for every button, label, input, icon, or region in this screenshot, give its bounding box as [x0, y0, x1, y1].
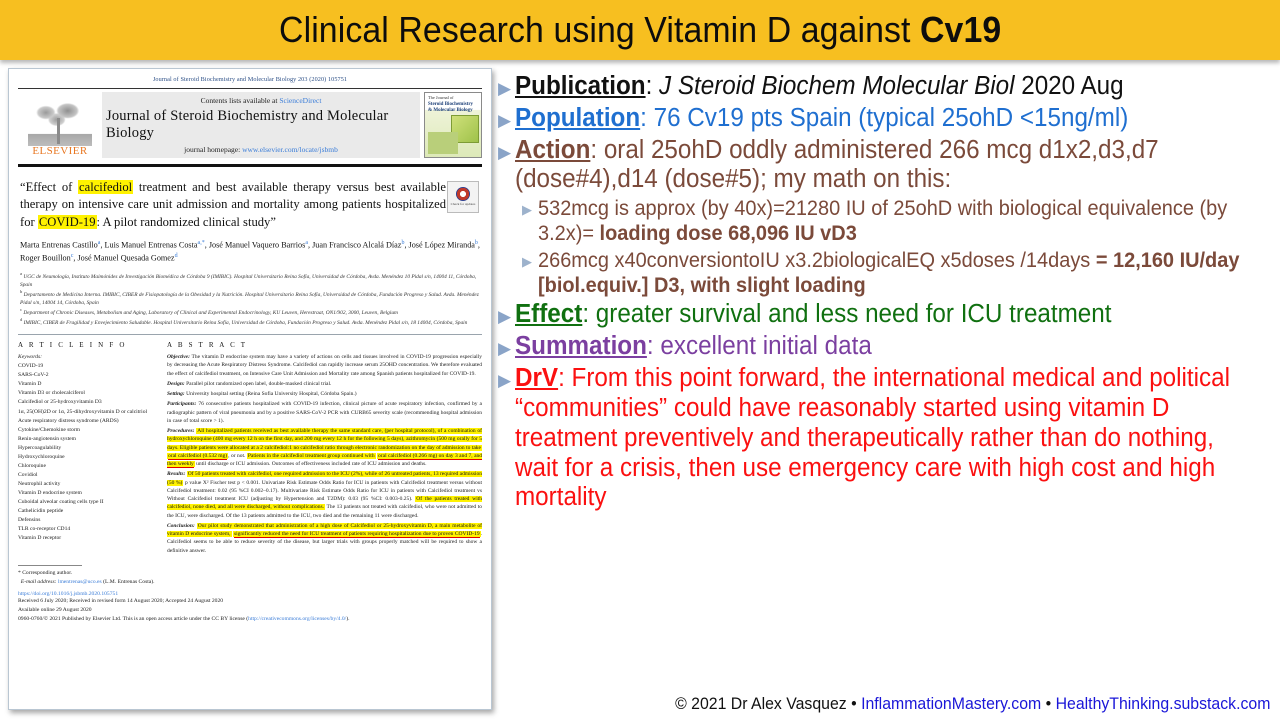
crossmark-check-for-updates-badge[interactable]: Check for updates [447, 181, 479, 213]
email-note: E-mail address: lmentrenas@uco.es (L.M. … [18, 578, 482, 587]
abstract-section-label: Objective: [167, 354, 190, 360]
keywords-label: Keywords: [18, 353, 158, 362]
paper-screenshot-panel[interactable]: Journal of Steroid Biochemistry and Mole… [8, 68, 492, 710]
keyword-item: SARS-CoV-2 [18, 371, 158, 380]
keyword-item: Cytokine/Chemokine storm [18, 426, 158, 435]
abstract-section-label: Participants: [167, 401, 196, 407]
abstract-paragraph: Objective: The vitamin D endocrine syste… [167, 353, 482, 378]
bullet-population-body: 76 Cv19 pts Spain (typical 25ohD <15ng/m… [654, 104, 1129, 132]
footer-sep-1: • [847, 695, 861, 713]
bullet-action-sep: : [590, 136, 603, 164]
article-info-heading: A R T I C L E I N F O [18, 341, 158, 349]
keyword-item: Vitamin D [18, 380, 158, 389]
journal-homepage-line: journal homepage: www.elsevier.com/locat… [184, 145, 338, 154]
masthead-box: Contents lists available at ScienceDirec… [102, 92, 420, 158]
bullet-drv-lead: DrV [515, 364, 558, 392]
affiliation-line: d IMIBIC, CIBER de Fragilidad y Envejeci… [20, 317, 480, 327]
bullet-action-sub2-text: 266mcg x40conversiontoIU x3.2biologicalE… [538, 249, 1243, 299]
article-title-part: : A pilot randomized clinical study” [97, 215, 276, 229]
journal-running-head: Journal of Steroid Biochemistry and Mole… [18, 76, 482, 83]
keyword-item: Renin-angiotensin system [18, 435, 158, 444]
bullet-arrow-icon: ▶ [498, 372, 515, 390]
bullet-drv-text: DrV: From this point forward, the intern… [515, 364, 1242, 513]
bullet-arrow-icon: ▶ [498, 340, 515, 358]
keyword-item: Chloroquine [18, 462, 158, 471]
abstract-body: Objective: The vitamin D endocrine syste… [167, 353, 482, 555]
abstract-paragraph: Setting: University hospital setting (Re… [167, 390, 482, 398]
abstract-paragraph: Results: Of 50 patients treated with cal… [167, 470, 482, 520]
keyword-item: Vitamin D3 or cholecalciferol [18, 389, 158, 398]
bullet-population-text: Population: 76 Cv19 pts Spain (typical 2… [515, 104, 1242, 134]
bullet-arrow-icon: ▶ [498, 144, 515, 162]
journal-cover-thumbnail: The Journal of Steroid Biochemistry & Mo… [424, 92, 482, 158]
corresponding-author-note: * Corresponding author. [18, 569, 482, 578]
contents-prefix: Contents lists available at [201, 96, 280, 105]
page-title-bold: Cv19 [920, 9, 1001, 50]
contents-line: Contents lists available at ScienceDirec… [201, 96, 322, 105]
slide-title-banner: Clinical Research using Vitamin D agains… [0, 0, 1280, 60]
slide-root: Clinical Research using Vitamin D agains… [0, 0, 1280, 720]
keyword-item: Cathelicidin peptide [18, 507, 158, 516]
page-title: Clinical Research using Vitamin D agains… [279, 9, 1001, 51]
bullet-list: ▶ Publication: J Steroid Biochem Molecul… [498, 72, 1280, 672]
bullet-action-sub2: ▶ 266mcg x40conversiontoIU x3.2biologica… [498, 249, 1280, 299]
license-prefix: 0960-0760/© 2021 Published by Elsevier L… [18, 616, 248, 622]
keyword-item: TLR co-receptor CD14 [18, 525, 158, 534]
keyword-item: Vitamin D endocrine system [18, 489, 158, 498]
affiliation-line: c Department of Chronic Diseases, Metabo… [20, 307, 480, 317]
keyword-item: Cuboidal alveolar coating cells type II [18, 498, 158, 507]
footer-sep-2: • [1041, 695, 1055, 713]
cover-helix-icon [428, 132, 458, 154]
bullet-effect: ▶ Effect: greater survival and less need… [498, 300, 1280, 330]
bullet-publication-text: Publication: J Steroid Biochem Molecular… [515, 72, 1242, 102]
keyword-item: Neutrophil activity [18, 480, 158, 489]
bullet-arrow-icon: ▶ [522, 203, 538, 217]
keyword-item: Calcifediol or 25-hydroxyvitamin D3 [18, 398, 158, 407]
article-columns: A R T I C L E I N F O Keywords:COVID-19S… [18, 341, 482, 557]
bullet-drv: ▶ DrV: From this point forward, the inte… [498, 364, 1280, 513]
abstract-section-label: Design: [167, 381, 185, 387]
bullet-population: ▶ Population: 76 Cv19 pts Spain (typical… [498, 104, 1280, 134]
bullet-summation-body: excellent initial data [660, 332, 871, 360]
abstract-section-label: Setting: [167, 391, 185, 397]
bullet-publication-lead: Publication [515, 72, 646, 100]
bullet-arrow-icon: ▶ [498, 112, 515, 130]
abstract-column: A B S T R A C T Objective: The vitamin D… [167, 341, 482, 557]
keyword-item: Covidiol [18, 471, 158, 480]
bullet-population-sep: : [640, 104, 653, 132]
journal-title: Journal of Steroid Biochemistry and Mole… [106, 108, 416, 142]
article-affiliations: a UGC de Neumología, Instituto Maimónide… [20, 271, 480, 327]
license-suffix: ). [346, 616, 349, 622]
abstract-paragraph: Conclusion: Our pilot study demonstrated… [167, 522, 482, 555]
masthead-rule [18, 164, 482, 167]
received-dates: Received 6 July 2020; Received in revise… [18, 597, 482, 606]
article-title: “Effect of calcifediol treatment and bes… [20, 179, 446, 231]
abstract-section-label: Results: [167, 471, 185, 477]
abstract-heading: A B S T R A C T [167, 341, 482, 349]
bullet-effect-sep: : [582, 300, 595, 328]
affiliation-line: a UGC de Neumología, Instituto Maimónide… [20, 271, 480, 289]
bullet-summation-lead: Summation [515, 332, 647, 360]
bullet-arrow-icon: ▶ [522, 255, 538, 269]
bullet-action-lead: Action [515, 136, 590, 164]
bullet-effect-text: Effect: greater survival and less need f… [515, 300, 1242, 330]
sub1-bold: loading dose 68,096 IU vD3 [600, 222, 857, 245]
bullet-effect-body: greater survival and less need for ICU t… [596, 300, 1112, 328]
highlighted-term: calcifediol [78, 180, 133, 194]
available-online-date: Available online 29 August 2020 [18, 606, 482, 615]
keyword-item: Acute respiratory distress syndrome (ARD… [18, 417, 158, 426]
bullet-action-sub1: ▶ 532mcg is approx (by 40x)=21280 IU of … [498, 197, 1280, 247]
bullet-publication: ▶ Publication: J Steroid Biochem Molecul… [498, 72, 1280, 102]
sub2-plain: 266mcg x40conversiontoIU x3.2biologicalE… [538, 249, 1096, 272]
abstract-paragraph: Design: Parallel pilot randomized open l… [167, 380, 482, 388]
bullet-arrow-icon: ▶ [498, 80, 515, 98]
affiliation-line: b Departamento de Medicina Interna. IMIB… [20, 289, 480, 307]
keyword-item: Hypercoagulability [18, 444, 158, 453]
keywords-list: Keywords:COVID-19SARS-CoV-2Vitamin DVita… [18, 353, 158, 543]
email-label: E-mail address: [21, 579, 57, 585]
bullet-publication-journal: J Steroid Biochem Molecular Biol [659, 72, 1014, 100]
elsevier-logo: ELSEVIER [18, 92, 102, 158]
bullet-action-body: oral 25ohD oddly administered 266 mcg d1… [515, 136, 1159, 194]
article-title-part: “Effect of [20, 180, 78, 194]
affiliation-divider [18, 334, 482, 335]
page-title-normal: Clinical Research using Vitamin D agains… [279, 9, 920, 50]
elsevier-wordmark: ELSEVIER [32, 146, 87, 157]
bullet-action-sub1-text: 532mcg is approx (by 40x)=21280 IU of 25… [538, 197, 1243, 247]
bullet-action-text: Action: oral 25ohD oddly administered 26… [515, 136, 1242, 196]
journal-masthead: ELSEVIER Contents lists available at Sci… [18, 88, 482, 158]
footer-site-2[interactable]: HealthyThinking.substack.com [1056, 695, 1271, 713]
bullet-effect-lead: Effect [515, 300, 582, 328]
article-footnotes: * Corresponding author. E-mail address: … [18, 565, 482, 624]
license-link[interactable]: http://creativecommons.org/licenses/by/4… [248, 616, 346, 622]
abstract-paragraph: Procedures: All hospitalized patients re… [167, 427, 482, 468]
crossmark-icon [456, 187, 470, 201]
abstract-paragraph: Participants: 76 consecutive patients ho… [167, 400, 482, 425]
cover-title-text: Steroid Biochemistry & Molecular Biology [425, 101, 481, 116]
bullet-population-lead: Population [515, 104, 640, 132]
bullet-summation-sep: : [647, 332, 660, 360]
abstract-section-label: Conclusion: [167, 523, 195, 529]
email-suffix: (L.M. Entrenas Costa). [103, 579, 154, 585]
slide-footer: © 2021 Dr Alex Vasquez • InflammationMas… [51, 695, 1280, 714]
email-link[interactable]: lmentrenas@uco.es [58, 579, 102, 585]
abstract-section-label: Procedures: [167, 428, 195, 434]
bullet-arrow-icon: ▶ [498, 308, 515, 326]
keyword-item: Hydroxychloroquine [18, 453, 158, 462]
bullet-summation-text: Summation: excellent initial data [515, 332, 1242, 362]
bullet-publication-tail: 2020 Aug [1014, 72, 1123, 100]
article-info-column: A R T I C L E I N F O Keywords:COVID-19S… [18, 341, 158, 557]
crossmark-label: Check for updates [451, 202, 476, 206]
bullet-drv-body: From this point forward, the internation… [515, 364, 1230, 511]
bullet-drv-sep: : [558, 364, 571, 392]
journal-homepage-link[interactable]: www.elsevier.com/locate/jsbmb [242, 145, 338, 154]
bullet-publication-sep: : [646, 72, 659, 100]
elsevier-tree-icon [28, 102, 92, 146]
license-line: 0960-0760/© 2021 Published by Elsevier L… [18, 615, 482, 624]
footer-copyright: © 2021 Dr Alex Vasquez [675, 695, 847, 713]
article-authors: Marta Entrenas Castilloa, Luis Manuel En… [20, 239, 480, 264]
keyword-item: Vitamin D receptor [18, 534, 158, 543]
highlighted-term: COVID-19 [38, 215, 97, 229]
footer-site-1[interactable]: InflammationMastery.com [861, 695, 1041, 713]
bullet-summation: ▶ Summation: excellent initial data [498, 332, 1280, 362]
bullet-action: ▶ Action: oral 25ohD oddly administered … [498, 136, 1280, 196]
sciencedirect-link[interactable]: ScienceDirect [279, 96, 321, 105]
keyword-item: 1α, 25(OH)2D or 1α, 25-dihydroxyvitamin … [18, 408, 158, 417]
keyword-item: Defensins [18, 516, 158, 525]
homepage-prefix: journal homepage: [184, 145, 242, 154]
keyword-item: COVID-19 [18, 362, 158, 371]
cover-top-text: The Journal of [425, 93, 481, 101]
footnote-rule [18, 565, 82, 566]
